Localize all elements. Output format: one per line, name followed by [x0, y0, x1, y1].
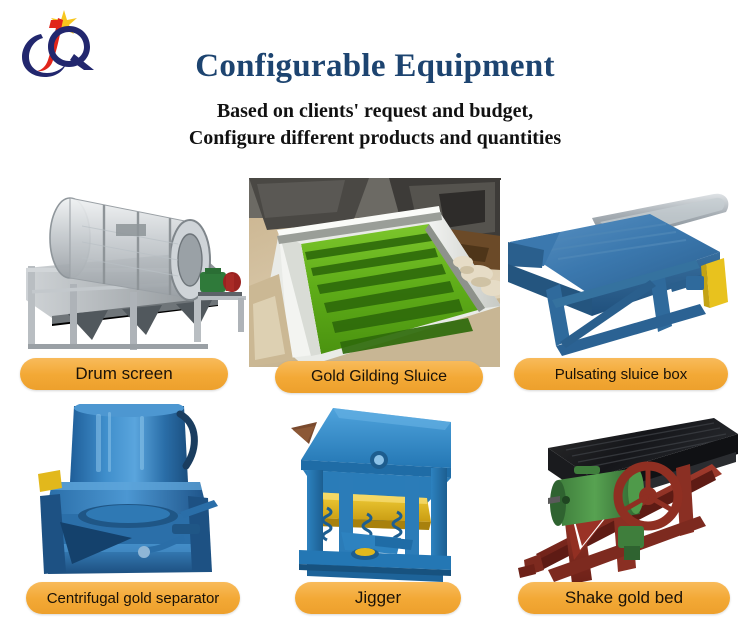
jigger-illustration	[255, 404, 495, 592]
product-card-jigger[interactable]: Jigger	[255, 404, 495, 617]
product-card-gold-gilding-sluice[interactable]: Gold Gilding Sluice	[255, 180, 495, 393]
product-label-drum-screen[interactable]: Drum screen	[20, 358, 228, 390]
page-subtitle-line-2: Configure different products and quantit…	[0, 125, 750, 151]
product-grid: Drum screen	[0, 180, 750, 627]
product-label-shake-gold-bed[interactable]: Shake gold bed	[518, 582, 730, 614]
shake-gold-bed-illustration	[500, 404, 740, 592]
pulsating-sluice-box-image	[500, 180, 740, 368]
drum-screen-illustration	[12, 180, 252, 368]
centrifugal-gold-separator-illustration	[12, 404, 252, 592]
product-card-shake-gold-bed[interactable]: Shake gold bed	[500, 404, 740, 617]
product-label-gold-gilding-sluice[interactable]: Gold Gilding Sluice	[275, 361, 483, 393]
page-subtitle: Based on clients' request and budget, Co…	[0, 98, 750, 151]
product-card-pulsating-sluice-box[interactable]: Pulsating sluice box	[500, 180, 740, 393]
page-title: Configurable Equipment	[0, 48, 750, 84]
product-label-pulsating-sluice-box[interactable]: Pulsating sluice box	[514, 358, 728, 390]
shake-gold-bed-image	[500, 404, 740, 592]
product-label-centrifugal-gold-separator[interactable]: Centrifugal gold separator	[26, 582, 240, 614]
product-label-jigger[interactable]: Jigger	[295, 582, 461, 614]
gold-gilding-sluice-image	[249, 178, 501, 367]
pulsating-sluice-box-illustration	[500, 180, 740, 368]
jigger-image	[255, 404, 495, 592]
centrifugal-gold-separator-image	[12, 404, 252, 592]
product-card-centrifugal-gold-separator[interactable]: Centrifugal gold separator	[12, 404, 252, 617]
header-block: Configurable Equipment Based on clients'…	[0, 48, 750, 151]
gold-gilding-sluice-illustration	[249, 178, 501, 367]
product-card-drum-screen[interactable]: Drum screen	[12, 180, 252, 393]
page-subtitle-line-1: Based on clients' request and budget,	[0, 98, 750, 124]
drum-screen-image	[12, 180, 252, 368]
